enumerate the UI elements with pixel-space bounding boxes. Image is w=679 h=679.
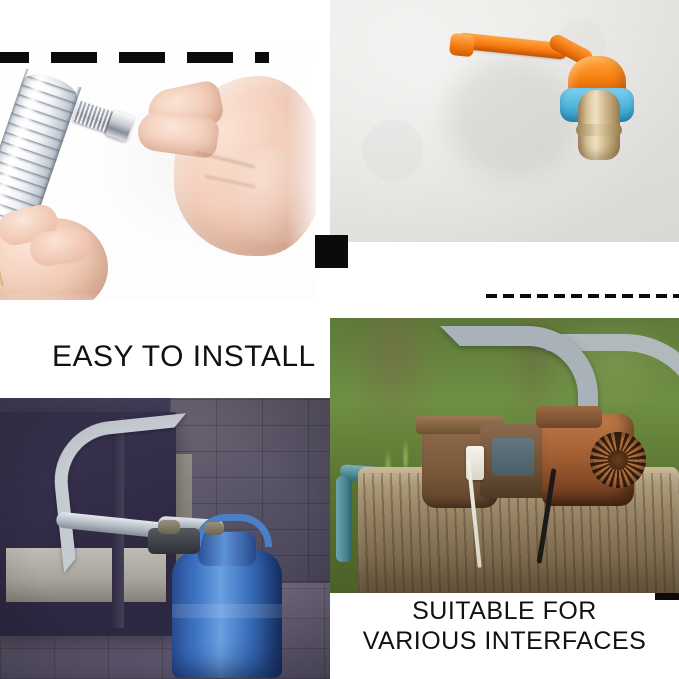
water-pump — [422, 398, 642, 518]
dash-segment — [656, 294, 667, 298]
dash-segment — [119, 52, 165, 63]
dash-segment — [605, 294, 616, 298]
motor-fan-hub — [608, 450, 628, 470]
headline-easy-to-install: EASY TO INSTALL — [52, 340, 316, 374]
dash-segment — [520, 294, 531, 298]
panel-wall-ball-valve — [330, 0, 679, 242]
headline-line-2: VARIOUS INTERFACES — [330, 626, 679, 656]
dash-segment — [639, 294, 650, 298]
dash-segment — [571, 294, 582, 298]
dash-segment — [588, 294, 599, 298]
left-hand-edge-fade — [0, 292, 126, 300]
dash-segment — [554, 294, 565, 298]
motor-top-cap — [536, 406, 602, 428]
right-hand-edge-fade — [286, 62, 316, 277]
brass-body-ring — [576, 124, 622, 136]
ball-valve-assembly — [456, 32, 646, 172]
dash-segment — [486, 294, 497, 298]
panel-hand-installing-clamp — [0, 0, 316, 300]
dash-segment — [51, 52, 97, 63]
left-hand — [0, 208, 126, 300]
panel-gas-cylinder — [0, 398, 330, 679]
dash-segment — [255, 52, 269, 63]
black-square-accent — [315, 235, 348, 268]
dash-segment — [537, 294, 548, 298]
dash-segment — [0, 52, 29, 63]
dash-segment — [622, 294, 633, 298]
panel-water-pump — [330, 318, 679, 593]
top-dashed-rule — [0, 52, 269, 63]
dash-segment — [673, 294, 679, 298]
lever-grip-tip — [449, 33, 475, 57]
right-hand — [136, 62, 316, 277]
dash-segment — [503, 294, 514, 298]
headline-suitable-for-various-interfaces: SUITABLE FOR VARIOUS INTERFACES — [330, 596, 679, 656]
headline-line-1: SUITABLE FOR — [330, 596, 679, 626]
blue-standpipe — [336, 476, 352, 562]
product-collage: EASY TO INSTALL SUITABLE FOR VARIOUS INT… — [0, 0, 679, 679]
pump-nameplate — [492, 438, 534, 476]
dash-segment — [187, 52, 233, 63]
photo-vignette — [0, 398, 330, 679]
mid-dashed-rule — [486, 294, 679, 298]
